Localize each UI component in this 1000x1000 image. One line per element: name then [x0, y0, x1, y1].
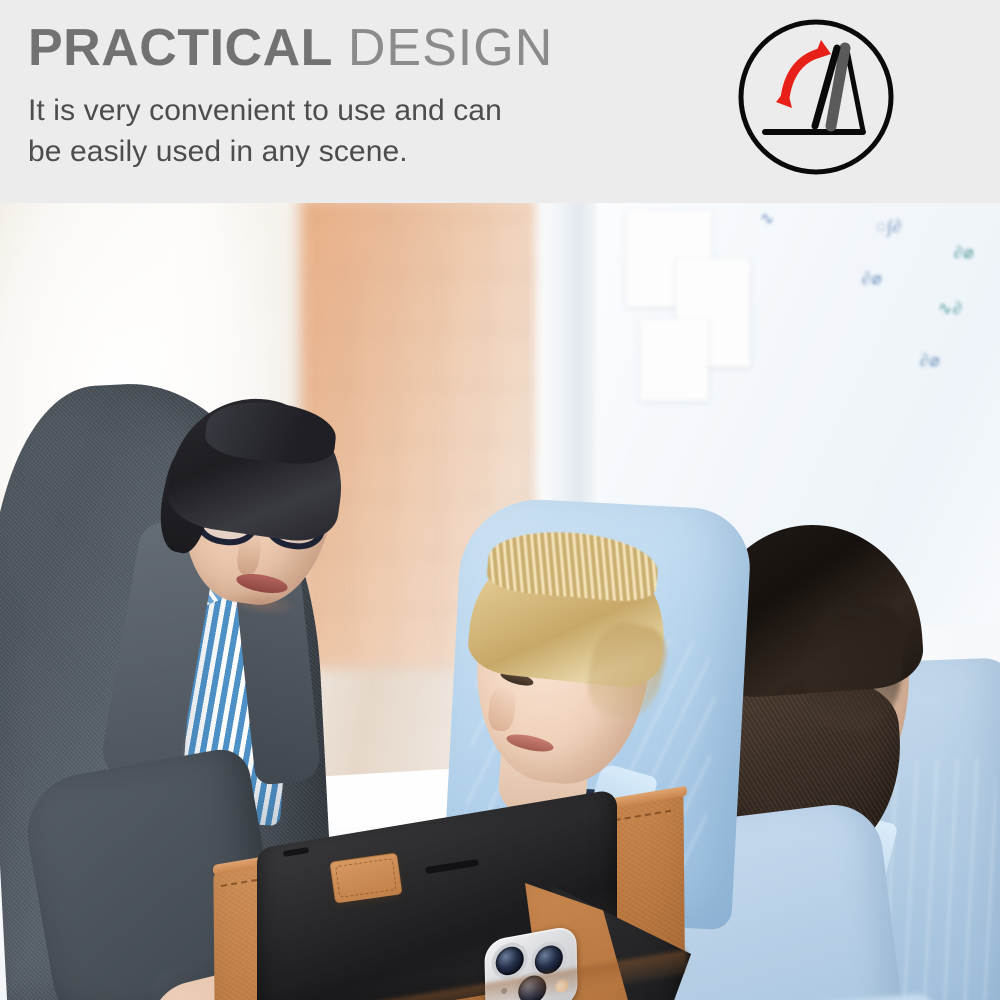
title-light-word: DESIGN	[348, 19, 553, 77]
page-title: PRACTICAL DESIGN	[28, 18, 688, 78]
subtitle-line-2: be easily used in any scene.	[28, 131, 688, 172]
subtitle-line-1: It is very convenient to use and can	[28, 90, 688, 131]
header-band: PRACTICAL DESIGN It is very convenient t…	[0, 0, 1000, 203]
header-text-block: PRACTICAL DESIGN It is very convenient t…	[28, 18, 688, 172]
whiteboard-writing: ∿	[760, 209, 775, 229]
whiteboard-writing: ∂⌀	[920, 351, 941, 371]
whiteboard-note	[640, 319, 708, 401]
leather-folio-wallet-case	[195, 843, 835, 1000]
whiteboard-writing: ∂⌀	[862, 269, 883, 289]
adjustable-viewing-angle-icon	[735, 16, 897, 178]
product-banner: PRACTICAL DESIGN It is very convenient t…	[0, 0, 1000, 1000]
whiteboard-writing: ∂⌀	[954, 243, 975, 263]
lifestyle-photo: ◌∫∂ ∂⌀ ∿∂ ∂⌀ ∂⌀ ∿	[0, 203, 1000, 1000]
whiteboard-writing: ∿∂	[938, 299, 963, 319]
page-subtitle: It is very convenient to use and can be …	[28, 90, 688, 172]
whiteboard-writing: ◌∫∂	[876, 217, 902, 237]
title-strong-word: PRACTICAL	[28, 19, 333, 77]
camera-lens-wide	[495, 944, 523, 977]
